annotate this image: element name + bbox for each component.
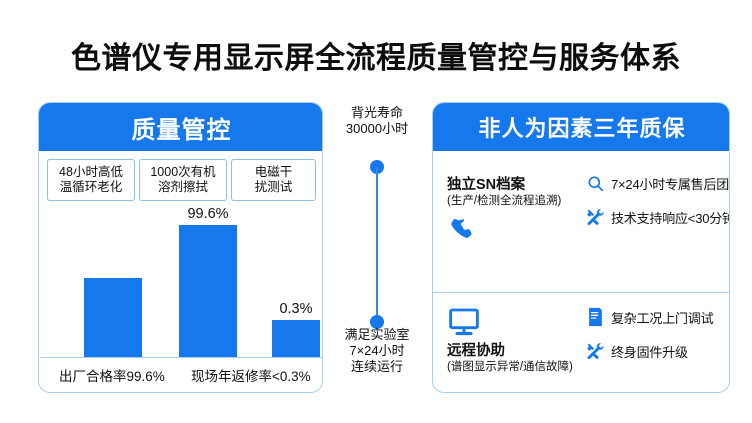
quality-control-panel: 质量管控 48小时高低 温循环老化 1000次有机 溶剂擦拭 电磁干 扰测试 9…	[38, 102, 323, 393]
chart-axis-labels: 出厂合格率99.6% 现场年返修率<0.3%	[39, 358, 322, 392]
warranty-service-list-top: 7×24小时专属售后团队 技术支持响应<30分钟	[585, 173, 730, 241]
warranty-section-sn: 独立SN档案 (生产/检测全流程追溯) 7×24小时专属售后团队	[433, 151, 730, 292]
service-item-label: 技术支持响应<30分钟	[611, 208, 730, 227]
service-item-onsite-debug: 复杂工况上门调试	[585, 307, 730, 327]
page-title: 色谱仪专用显示屏全流程质量管控与服务体系	[0, 33, 752, 77]
sn-record-title: 独立SN档案	[447, 177, 582, 194]
test-box-row: 48小时高低 温循环老化 1000次有机 溶剂擦拭 电磁干 扰测试	[47, 159, 316, 201]
test-box-solvent-wipe: 1000次有机 溶剂擦拭	[139, 159, 227, 201]
phone-icon	[447, 216, 582, 246]
test-box-line2: 溶剂擦拭	[144, 180, 222, 195]
connector-line	[376, 167, 378, 322]
chart-bar	[179, 225, 237, 357]
warranty-section-remote: 远程协助 (谱图显示异常/通信故障) 复杂工况上门调试	[433, 293, 730, 393]
chart-bar-value: 0.3%	[272, 301, 320, 317]
service-item-firmware-upgrade: 终身固件升级	[585, 341, 730, 361]
tools-icon	[585, 341, 605, 361]
service-item-response-time: 技术支持响应<30分钟	[585, 207, 730, 227]
axis-label-pass-rate: 出厂合格率99.6%	[59, 365, 165, 385]
connector-bottom-line2: 7×24小时	[327, 343, 427, 359]
test-box-line1: 电磁干	[236, 165, 311, 180]
service-item-label: 7×24小时专属售后团队	[611, 174, 730, 193]
remote-assist-subtitle: (谱图显示异常/通信故障)	[447, 360, 582, 374]
document-icon	[585, 307, 605, 327]
service-item-label: 终身固件升级	[611, 342, 688, 361]
service-item-support-team: 7×24小时专属售后团队	[585, 173, 730, 193]
sn-record-subtitle: (生产/检测全流程追溯)	[447, 194, 582, 208]
connector-bottom-line1: 满足实验室	[327, 327, 427, 343]
remote-assist-block: 远程协助 (谱图显示异常/通信故障)	[447, 307, 582, 374]
chart-bar-value: 99.6%	[179, 206, 237, 222]
search-icon	[585, 173, 605, 193]
test-box-line1: 1000次有机	[144, 165, 222, 180]
axis-label-repair-rate: 现场年返修率<0.3%	[191, 365, 311, 385]
quality-bar-chart: 99.6% 0.3%	[40, 213, 323, 358]
test-box-thermal-cycling: 48小时高低 温循环老化	[47, 159, 135, 201]
connector-bottom-line3: 连续运行	[327, 359, 427, 375]
remote-assist-title: 远程协助	[447, 343, 582, 360]
warranty-panel-header: 非人为因素三年质保	[433, 103, 730, 151]
chart-bar	[272, 320, 320, 357]
quality-control-panel-header: 质量管控	[39, 103, 323, 151]
chart-bar	[84, 278, 142, 357]
service-item-label: 复杂工况上门调试	[611, 308, 713, 327]
connector-bottom-text: 满足实验室 7×24小时 连续运行	[327, 327, 427, 375]
connector-top-line2: 30000小时	[327, 121, 427, 137]
test-box-line2: 扰测试	[236, 180, 311, 195]
test-box-emi: 电磁干 扰测试	[231, 159, 316, 201]
test-box-line1: 48小时高低	[52, 165, 130, 180]
warranty-service-list-bottom: 复杂工况上门调试 终身固件升级	[585, 307, 730, 375]
connector-top-line1: 背光寿命	[327, 105, 427, 121]
tools-icon	[585, 207, 605, 227]
connector-top-text: 背光寿命 30000小时	[327, 105, 427, 137]
test-box-line2: 温循环老化	[52, 180, 130, 195]
backlight-life-connector: 背光寿命 30000小时 满足实验室 7×24小时 连续运行	[327, 105, 427, 395]
sn-record-block: 独立SN档案 (生产/检测全流程追溯)	[447, 177, 582, 246]
monitor-icon	[447, 307, 582, 337]
warranty-panel: 非人为因素三年质保 独立SN档案 (生产/检测全流程追溯) 7×24小时专	[432, 102, 730, 393]
